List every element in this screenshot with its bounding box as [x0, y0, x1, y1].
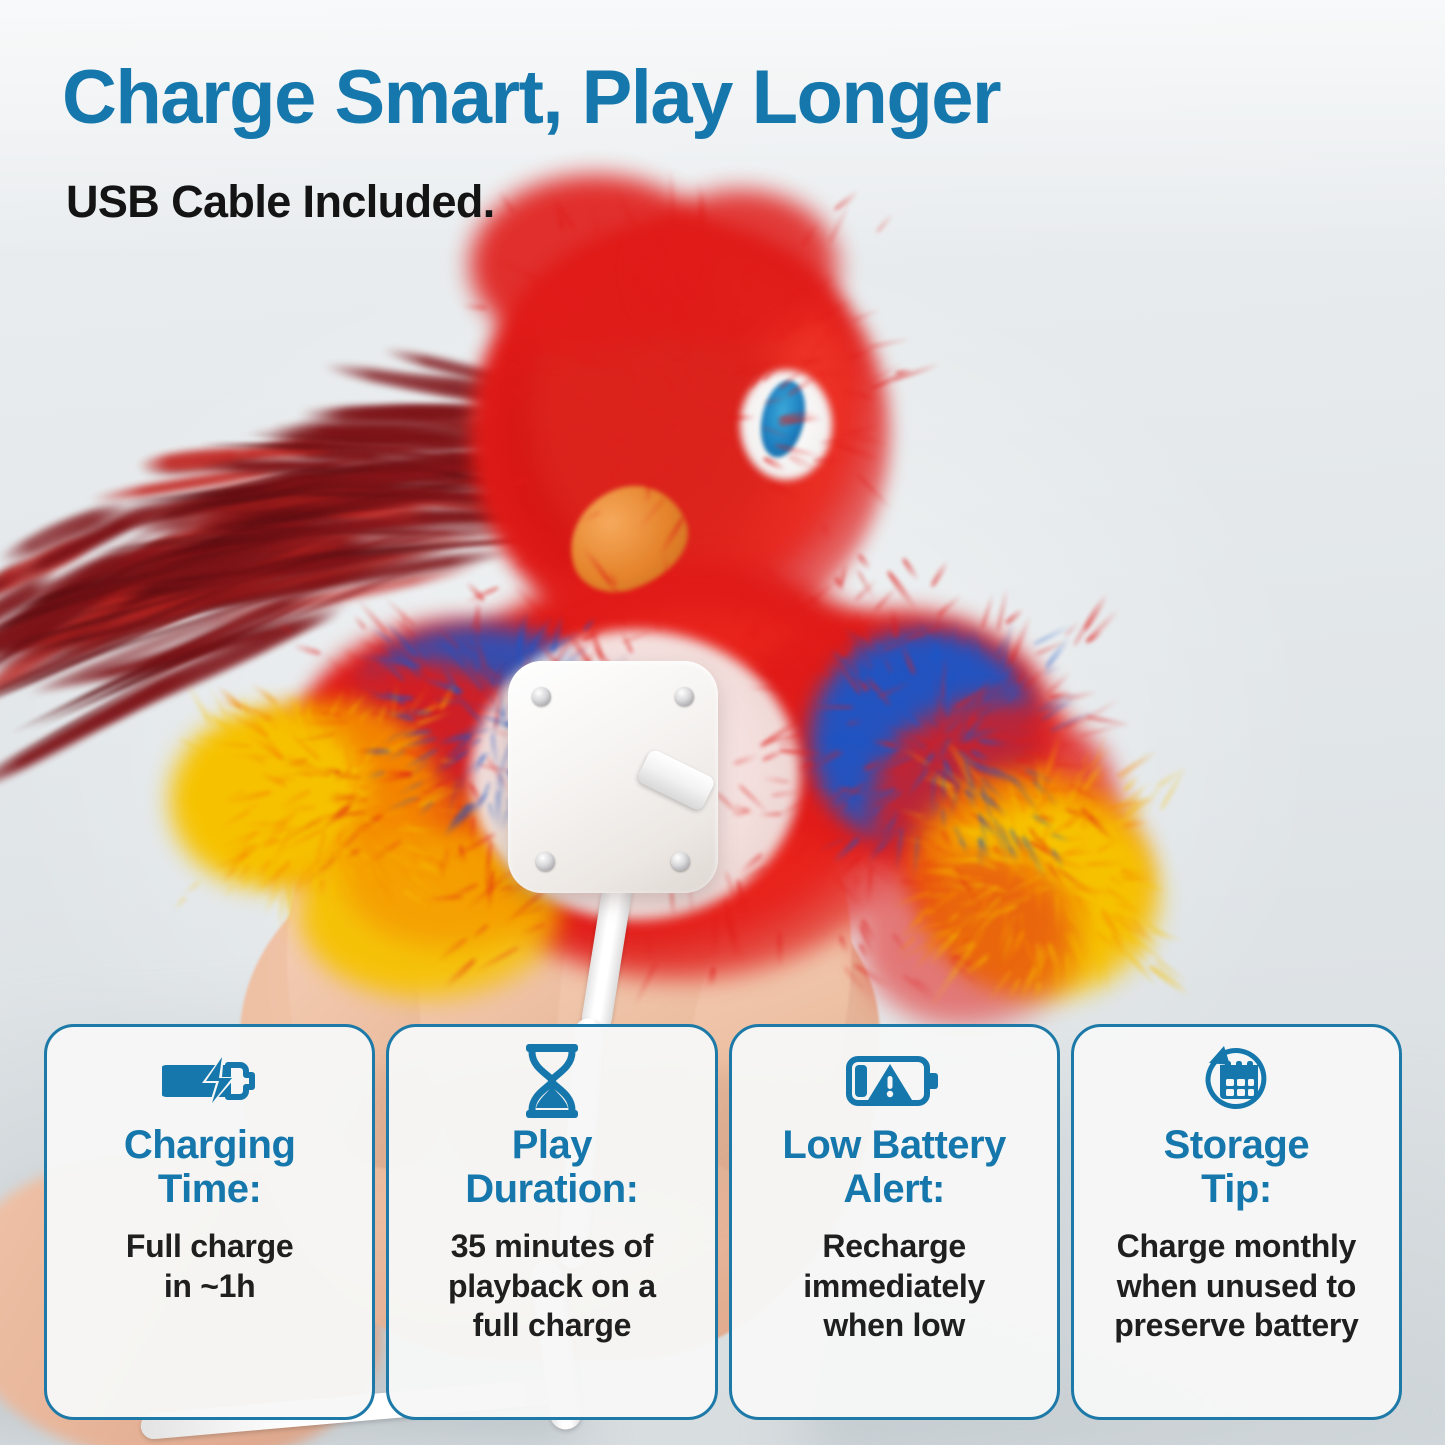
card-title-line: Alert:	[782, 1167, 1005, 1211]
card-body-line: preserve battery	[1114, 1306, 1358, 1346]
plush-fur-strand	[222, 885, 236, 899]
plush-fur-strand	[981, 592, 996, 629]
card-body: Recharge immediately when low	[803, 1227, 985, 1346]
plush-fur-strand	[854, 577, 879, 602]
plush-fur-strand	[660, 573, 666, 590]
card-body-line: when unused to	[1114, 1267, 1358, 1307]
plush-fur-strand	[702, 270, 705, 302]
page-title: Charge Smart, Play Longer	[62, 58, 1000, 137]
card-body: Full charge in ~1h	[126, 1227, 293, 1306]
card-body-line: when low	[803, 1306, 985, 1346]
plush-fur-strand	[461, 303, 488, 311]
plush-fur-strand	[278, 894, 284, 928]
card-body-line: in ~1h	[126, 1267, 293, 1307]
hourglass-icon	[520, 1045, 584, 1117]
feature-card-storage-tip[interactable]: Storage Tip: Charge monthly when unused …	[1071, 1024, 1402, 1420]
plush-fur-strand	[813, 458, 847, 463]
card-body-line: full charge	[448, 1306, 656, 1346]
card-body-line: Full charge	[126, 1227, 293, 1267]
plush-fur-strand	[1033, 624, 1074, 647]
page-subtitle: USB Cable Included.	[66, 176, 495, 228]
card-body-line: Recharge	[803, 1227, 985, 1267]
plush-fur-strand	[420, 772, 439, 777]
battery-charging-icon	[162, 1045, 258, 1117]
card-title: Low Battery Alert:	[782, 1123, 1005, 1211]
card-body-line: immediately	[803, 1267, 985, 1307]
plush-fur-strand	[838, 935, 849, 955]
feature-card-low-battery-alert[interactable]: Low Battery Alert: Recharge immediately …	[729, 1024, 1060, 1420]
plush-fur-strand	[292, 643, 322, 657]
plush-fur-strand	[1004, 607, 1025, 625]
plush-fur-strand	[866, 336, 913, 350]
plush-fur-strand	[319, 879, 325, 898]
card-title: Storage Tip:	[1164, 1123, 1309, 1211]
infographic-canvas: Charge Smart, Play Longer USB Cable Incl…	[0, 0, 1445, 1445]
battery-warning-icon	[846, 1045, 942, 1117]
feature-card-charging-time[interactable]: Charging Time: Full charge in ~1h	[44, 1024, 375, 1420]
card-title: Charging Time:	[124, 1123, 296, 1211]
card-title-line: Tip:	[1164, 1167, 1309, 1211]
plush-fur-strand	[874, 586, 898, 612]
card-body-line: playback on a	[448, 1267, 656, 1307]
plush-fur-strand	[901, 557, 920, 582]
card-title-line: Play	[465, 1123, 638, 1167]
plush-fur-strand	[486, 878, 491, 905]
plush-fur-strand	[275, 620, 292, 634]
plush-fur-strand	[172, 895, 187, 910]
card-title-line: Duration:	[465, 1167, 638, 1211]
screw	[536, 852, 555, 871]
card-body-line: Charge monthly	[1114, 1227, 1358, 1267]
card-title-line: Low Battery	[782, 1123, 1005, 1167]
card-body: Charge monthly when unused to preserve b…	[1114, 1227, 1358, 1346]
card-body: 35 minutes of playback on a full charge	[448, 1227, 656, 1346]
card-title-line: Charging	[124, 1123, 296, 1167]
feature-card-play-duration[interactable]: Play Duration: 35 minutes of playback on…	[386, 1024, 717, 1420]
plush-fur	[640, 190, 840, 350]
plush-fur-strand	[352, 614, 367, 630]
card-title: Play Duration:	[465, 1123, 638, 1211]
card-title-line: Storage	[1164, 1123, 1309, 1167]
screw	[675, 687, 694, 706]
plush-fur-strand	[857, 553, 873, 571]
plush-parrot	[170, 230, 1100, 1020]
calendar-refresh-icon	[1196, 1045, 1276, 1117]
feature-card-row: Charging Time: Full charge in ~1h Pla	[44, 1024, 1402, 1420]
plush-fur-strand	[930, 559, 950, 588]
plush-fur-strand	[181, 880, 200, 896]
card-body-line: 35 minutes of	[448, 1227, 656, 1267]
screw	[532, 687, 551, 706]
plush-fur-strand	[1121, 875, 1158, 881]
card-title-line: Time:	[124, 1167, 296, 1211]
screw	[671, 852, 690, 871]
